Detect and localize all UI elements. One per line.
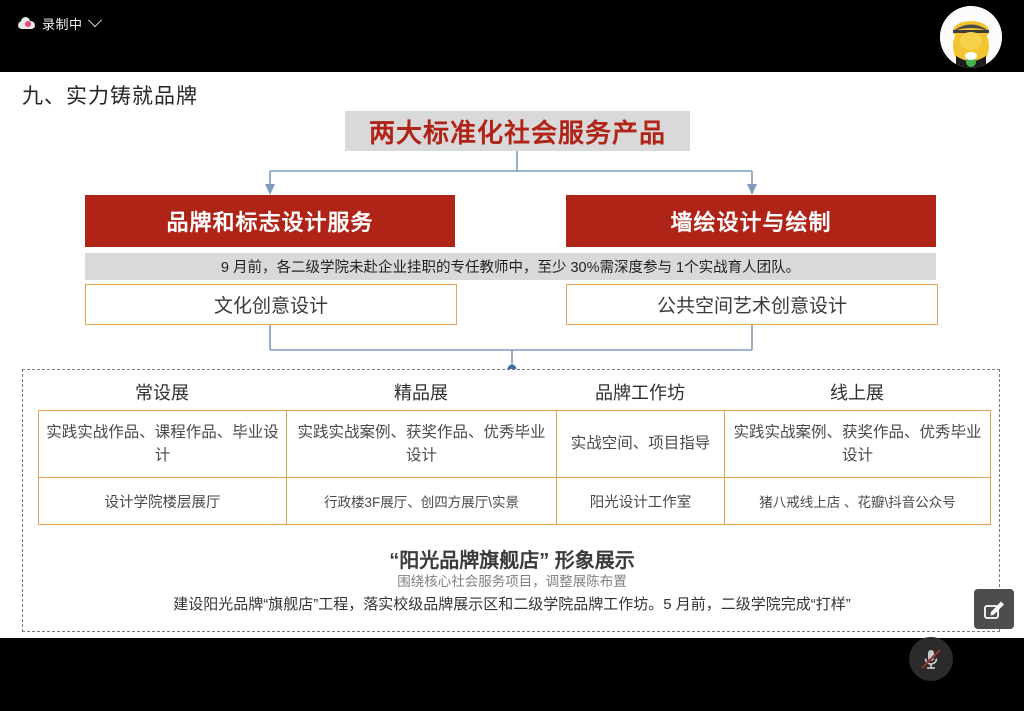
table-row: 设计学院楼层展厅 行政楼3F展厅、创四方展厅\实景 阳光设计工作室 猪八戒线上店… xyxy=(39,478,991,525)
recording-indicator[interactable]: 录制中 xyxy=(18,12,100,34)
design-box-public-space-label: 公共空间艺术创意设计 xyxy=(657,291,847,318)
table-cell: 猪八戒线上店 、花瓣\抖音公众号 xyxy=(725,478,991,525)
microphone-toggle-button[interactable] xyxy=(909,637,953,681)
pen-annotate-icon xyxy=(982,597,1006,621)
slide-canvas: 九、实力铸就品牌 两大标准化社会服务产品 品牌和标志设计服务 墙绘设计与绘制 9… xyxy=(0,72,1024,638)
microphone-muted-icon xyxy=(918,646,944,672)
page-title: 九、实力铸就品牌 xyxy=(22,80,198,110)
bottom-bar xyxy=(0,638,1024,711)
table-column-headers: 常设展 精品展 品牌工作坊 线上展 xyxy=(38,378,990,410)
note-band-text: 9 月前，各二级学院未赴企业挂职的专任教师中，至少 30%需深度参与 1个实战育… xyxy=(221,256,800,277)
table-cell: 设计学院楼层展厅 xyxy=(39,478,287,525)
table-cell: 实践实战案例、获奖作品、优秀毕业设计 xyxy=(725,411,991,478)
column-header-2: 品牌工作坊 xyxy=(556,378,724,410)
footer-line: 建设阳光品牌“旗舰店”工程，落实校级品牌展示区和二级学院品牌工作坊。5 月前，二… xyxy=(0,593,1024,614)
column-header-1: 精品展 xyxy=(286,378,556,410)
table-row: 实践实战作品、课程作品、毕业设计 实践实战案例、获奖作品、优秀毕业设计 实战空间… xyxy=(39,411,991,478)
exhibition-table: 常设展 精品展 品牌工作坊 线上展 实践实战作品、课程作品、毕业设计 实践实战案… xyxy=(38,378,990,525)
table-body: 实践实战作品、课程作品、毕业设计 实践实战案例、获奖作品、优秀毕业设计 实战空间… xyxy=(38,410,991,525)
service-box-mural-label: 墙绘设计与绘制 xyxy=(670,205,831,237)
chevron-down-icon[interactable] xyxy=(87,13,101,27)
footer-title: “阳光品牌旗舰店” 形象展示 xyxy=(0,544,1024,573)
cloud-record-icon xyxy=(18,17,35,29)
pen-annotate-button[interactable] xyxy=(974,589,1014,629)
recording-label: 录制中 xyxy=(42,14,83,33)
design-box-culture-label: 文化创意设计 xyxy=(214,291,328,318)
top-bar: 录制中 张宏的屏幕共享 xyxy=(0,0,1024,72)
column-header-3: 线上展 xyxy=(724,378,990,410)
column-header-0: 常设展 xyxy=(38,378,286,410)
service-box-mural[interactable]: 墙绘设计与绘制 xyxy=(566,195,936,247)
note-band: 9 月前，各二级学院未赴企业挂职的专任教师中，至少 30%需深度参与 1个实战育… xyxy=(85,253,936,280)
service-box-brand[interactable]: 品牌和标志设计服务 xyxy=(85,195,455,247)
avatar-illustration xyxy=(940,6,1002,68)
table-cell: 实践实战作品、课程作品、毕业设计 xyxy=(39,411,287,478)
service-box-brand-label: 品牌和标志设计服务 xyxy=(166,205,373,237)
table-cell: 实战空间、项目指导 xyxy=(557,411,725,478)
user-avatar-image xyxy=(940,6,1002,68)
table-cell: 实践实战案例、获奖作品、优秀毕业设计 xyxy=(287,411,557,478)
header-box: 两大标准化社会服务产品 xyxy=(345,111,690,151)
design-box-culture[interactable]: 文化创意设计 xyxy=(85,284,457,325)
footer-subtitle: 围绕核心社会服务项目，调整展陈布置 xyxy=(0,570,1024,590)
header-box-label: 两大标准化社会服务产品 xyxy=(369,113,666,150)
avatar[interactable] xyxy=(940,6,1002,68)
design-box-public-space[interactable]: 公共空间艺术创意设计 xyxy=(566,284,938,325)
table-cell: 行政楼3F展厅、创四方展厅\实景 xyxy=(287,478,557,525)
table-cell: 阳光设计工作室 xyxy=(557,478,725,525)
